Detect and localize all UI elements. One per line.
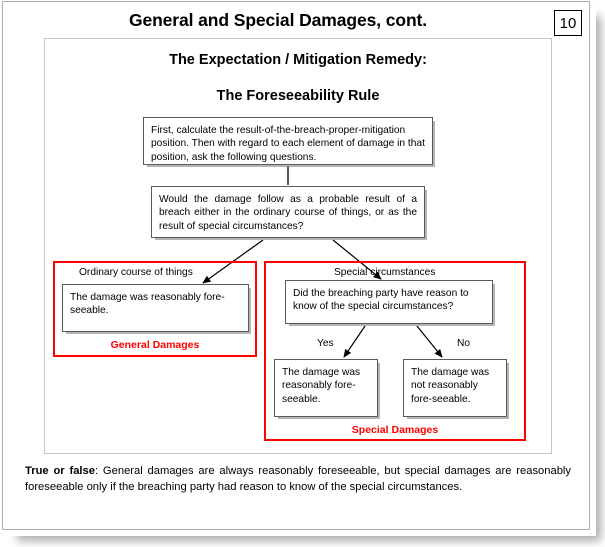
caption-special-circumstances: Special circumstances <box>334 267 435 278</box>
bottom-caption-lead: True or false <box>25 465 95 477</box>
bottom-caption: True or false: General damages are alway… <box>25 464 571 496</box>
slide-page: General and Special Damages, cont. 10 Th… <box>0 0 605 547</box>
page-title: General and Special Damages, cont. <box>23 10 533 31</box>
box-yes-outcome: The damage was reasonably fore-seeable. <box>274 359 378 417</box>
diagram-inner: The Expectation / Mitigation Remedy: The… <box>45 39 551 453</box>
bottom-caption-body: : General damages are always reasonably … <box>25 465 571 493</box>
box-no-outcome: The damage was not reasonably fore-seeab… <box>403 359 507 417</box>
box-first-step: First, calculate the result-of-the-breac… <box>143 117 433 165</box>
caption-yes: Yes <box>317 338 334 349</box>
diagram-heading-remedy: The Expectation / Mitigation Remedy: <box>45 52 551 68</box>
diagram-heading-foreseeability: The Foreseeability Rule <box>45 88 551 104</box>
diagram-frame: The Expectation / Mitigation Remedy: The… <box>44 38 552 454</box>
box-main-question: Would the damage follow as a probable re… <box>151 186 425 238</box>
slide-content: General and Special Damages, cont. 10 Th… <box>3 2 589 529</box>
page-number-value: 10 <box>560 15 577 32</box>
special-damages-label: Special Damages <box>266 424 524 436</box>
general-damages-label: General Damages <box>55 339 255 351</box>
page-number-badge: 10 <box>554 10 582 36</box>
caption-no: No <box>457 338 470 349</box>
box-general-foreseeable: The damage was reasonably fore-seeable. <box>62 284 249 332</box>
box-did-breaching-party-know: Did the breaching party have reason to k… <box>285 280 493 324</box>
caption-ordinary-course: Ordinary course of things <box>79 267 193 278</box>
